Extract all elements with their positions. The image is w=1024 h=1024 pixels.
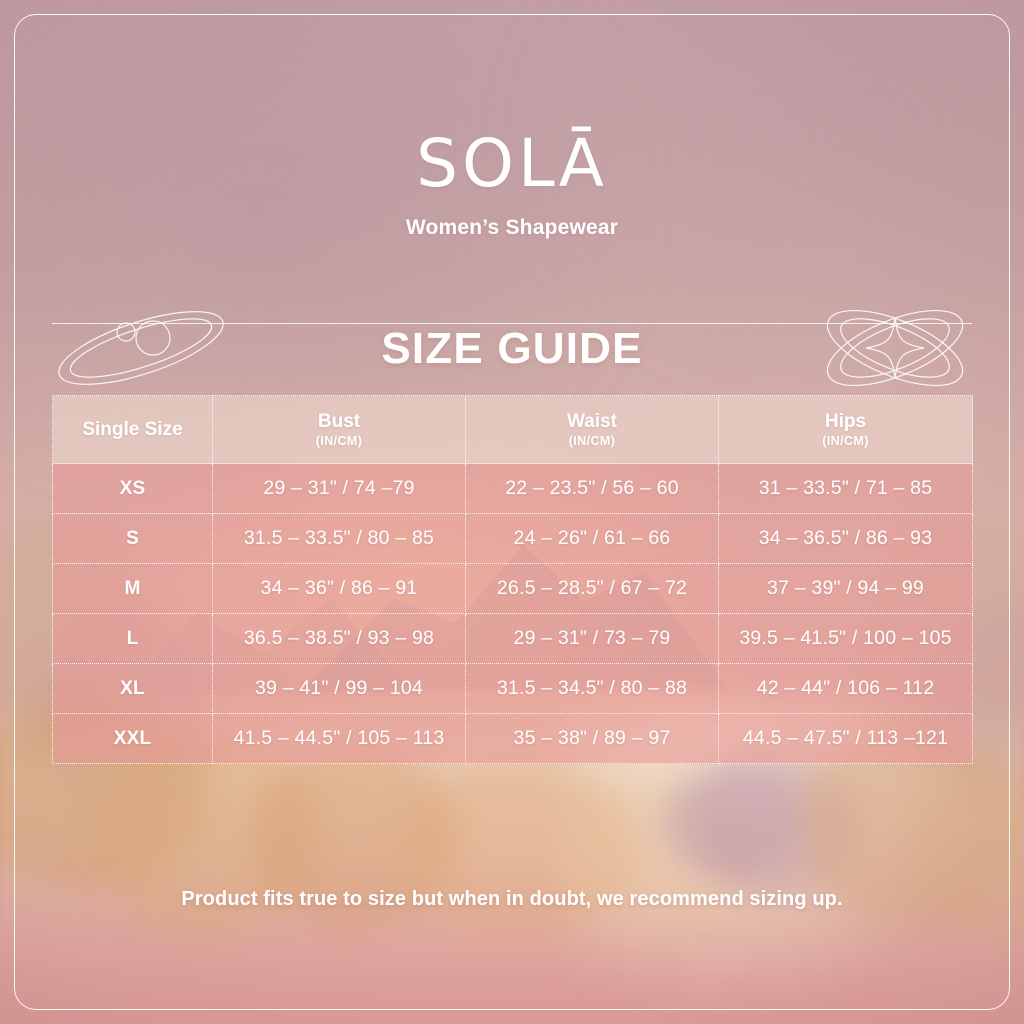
column-header-label: Waist: [470, 411, 714, 433]
cell-bust: 29 – 31" / 74 –79: [213, 464, 466, 514]
cell-hips: 37 – 39" / 94 – 99: [719, 564, 973, 614]
table-row: S 31.5 – 33.5" / 80 – 85 24 – 26" / 61 –…: [53, 514, 973, 564]
size-guide-table: Single Size Bust (IN/CM) Waist (IN/CM) H…: [52, 395, 973, 764]
cell-bust: 39 – 41" / 99 – 104: [213, 664, 466, 714]
table-row: M 34 – 36" / 86 – 91 26.5 – 28.5" / 67 –…: [53, 564, 973, 614]
cell-waist: 35 – 38" / 89 – 97: [466, 714, 719, 764]
cell-hips: 34 – 36.5" / 86 – 93: [719, 514, 973, 564]
column-header-waist: Waist (IN/CM): [466, 396, 719, 464]
table-row: L 36.5 – 38.5" / 93 – 98 29 – 31" / 73 –…: [53, 614, 973, 664]
cell-hips: 39.5 – 41.5" / 100 – 105: [719, 614, 973, 664]
table-row: XS 29 – 31" / 74 –79 22 – 23.5" / 56 – 6…: [53, 464, 973, 514]
column-header-unit: (IN/CM): [470, 434, 714, 448]
cell-size: XL: [53, 664, 213, 714]
cell-waist: 26.5 – 28.5" / 67 – 72: [466, 564, 719, 614]
cell-size: S: [53, 514, 213, 564]
cell-bust: 31.5 – 33.5" / 80 – 85: [213, 514, 466, 564]
cell-waist: 24 – 26" / 61 – 66: [466, 514, 719, 564]
cell-size: XS: [53, 464, 213, 514]
cell-hips: 42 – 44" / 106 – 112: [719, 664, 973, 714]
brand-block: SOLĀ Women’s Shapewear: [0, 131, 1024, 240]
cell-waist: 22 – 23.5" / 56 – 60: [466, 464, 719, 514]
content-layer: SOLĀ Women’s Shapewear: [0, 0, 1024, 1024]
column-header-label: Hips: [723, 411, 968, 433]
column-header-bust: Bust (IN/CM): [213, 396, 466, 464]
title-band: SIZE GUIDE: [0, 300, 1024, 400]
column-header-unit: (IN/CM): [723, 434, 968, 448]
column-header-hips: Hips (IN/CM): [719, 396, 973, 464]
cell-waist: 31.5 – 34.5" / 80 – 88: [466, 664, 719, 714]
fit-note: Product fits true to size but when in do…: [0, 888, 1024, 911]
cell-size: M: [53, 564, 213, 614]
page-title: SIZE GUIDE: [0, 324, 1024, 374]
brand-tagline: Women’s Shapewear: [0, 216, 1024, 240]
cell-size: XXL: [53, 714, 213, 764]
cell-bust: 36.5 – 38.5" / 93 – 98: [213, 614, 466, 664]
table-row: XL 39 – 41" / 99 – 104 31.5 – 34.5" / 80…: [53, 664, 973, 714]
table-row: XXL 41.5 – 44.5" / 105 – 113 35 – 38" / …: [53, 714, 973, 764]
table-header-row: Single Size Bust (IN/CM) Waist (IN/CM) H…: [53, 396, 973, 464]
brand-logo: SOLĀ: [0, 131, 1024, 197]
table-header: Single Size Bust (IN/CM) Waist (IN/CM) H…: [53, 396, 973, 464]
column-header-label: Bust: [217, 411, 461, 433]
cell-bust: 34 – 36" / 86 – 91: [213, 564, 466, 614]
size-guide-canvas: SOLĀ Women’s Shapewear: [0, 0, 1024, 1024]
cell-hips: 31 – 33.5" / 71 – 85: [719, 464, 973, 514]
column-header-label: Single Size: [57, 419, 208, 441]
cell-size: L: [53, 614, 213, 664]
cell-hips: 44.5 – 47.5" / 113 –121: [719, 714, 973, 764]
table-body: XS 29 – 31" / 74 –79 22 – 23.5" / 56 – 6…: [53, 464, 973, 764]
cell-waist: 29 – 31" / 73 – 79: [466, 614, 719, 664]
column-header-single-size: Single Size: [53, 396, 213, 464]
cell-bust: 41.5 – 44.5" / 105 – 113: [213, 714, 466, 764]
column-header-unit: (IN/CM): [217, 434, 461, 448]
